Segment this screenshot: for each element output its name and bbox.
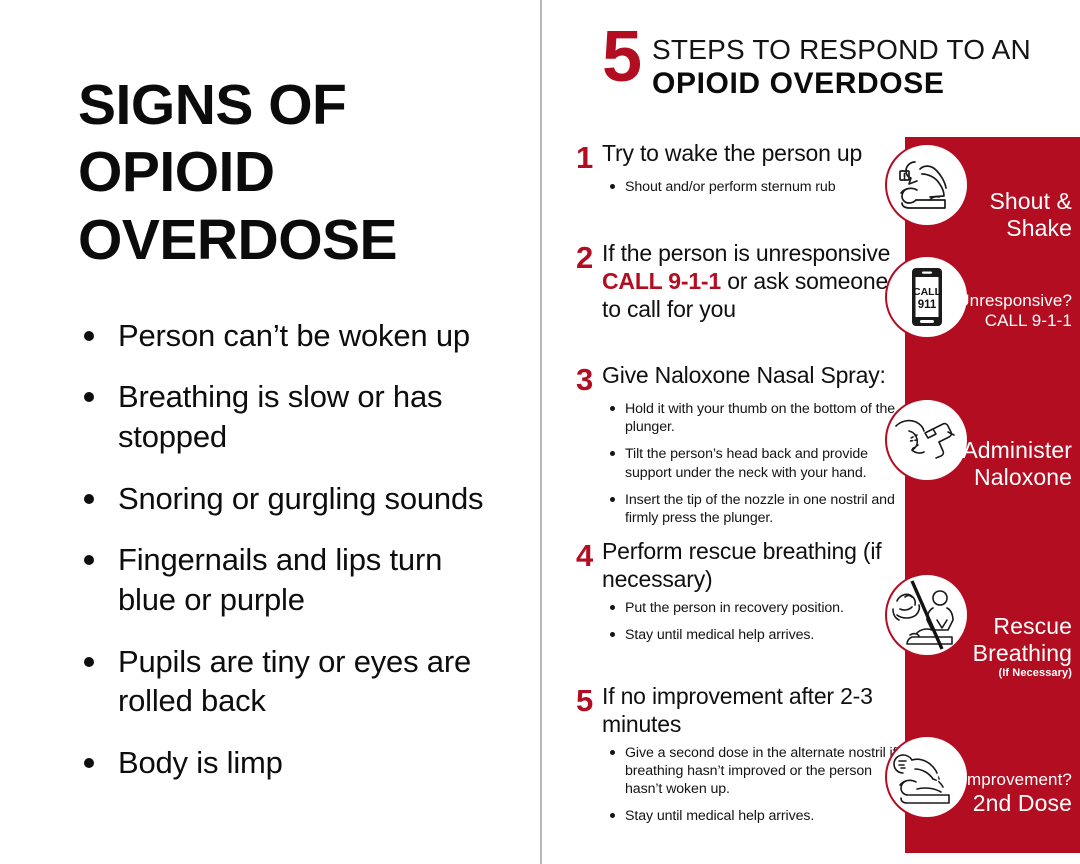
bullet-dot-icon — [84, 331, 94, 341]
bullet-dot-icon — [610, 497, 615, 502]
band-label-line-2: Shake — [932, 215, 1072, 242]
step-3-bullets: Hold it with your thumb on the bottom of… — [576, 400, 906, 527]
step-4-number: 4 — [576, 538, 602, 571]
signs-panel: SIGNS OF OPIOID OVERDOSE Person can’t be… — [0, 0, 540, 864]
step-4-bullets: Put the person in recovery position. Sta… — [576, 599, 906, 644]
list-item: Tilt the person’s head back and provide … — [610, 445, 906, 481]
bullet-text: Shout and/or perform sternum rub — [625, 179, 836, 195]
band-label-shout-shake: Shout & Shake — [932, 188, 1072, 242]
list-item: Body is limp — [78, 743, 506, 783]
step-1-number: 1 — [576, 140, 602, 173]
step-5: 5 If no improvement after 2-3 minutes Gi… — [576, 683, 906, 834]
band-label-line-2: Breathing — [922, 640, 1072, 667]
bullet-dot-icon — [610, 605, 615, 610]
step-3-number: 3 — [576, 362, 602, 395]
signs-panel-title: SIGNS OF OPIOID OVERDOSE — [78, 72, 506, 274]
bullet-dot-icon — [610, 813, 615, 818]
list-item: Fingernails and lips turn blue or purple — [78, 540, 506, 619]
signs-list: Person can’t be woken up Breathing is sl… — [78, 316, 506, 783]
step-2-title-pre: If the person is unresponsive — [602, 240, 890, 266]
steps-panel: 5 STEPS TO RESPOND TO AN OPIOID OVERDOSE… — [542, 0, 1080, 864]
list-item: Pupils are tiny or eyes are rolled back — [78, 642, 506, 721]
bullet-text: Tilt the person’s head back and provide … — [625, 446, 868, 480]
sign-text: Snoring or gurgling sounds — [118, 481, 483, 516]
sign-text: Body is limp — [118, 745, 283, 780]
step-4-title: Perform rescue breathing (if necessary) — [602, 538, 906, 594]
list-item: Snoring or gurgling sounds — [78, 479, 506, 519]
band-label-line-1: Administer — [922, 437, 1072, 464]
bullet-dot-icon — [610, 632, 615, 637]
bullet-text: Insert the tip of the nozzle in one nost… — [625, 492, 895, 526]
list-item: Put the person in recovery position. — [610, 599, 906, 617]
step-1-bullets: Shout and/or perform sternum rub — [576, 178, 906, 196]
steps-panel-header: 5 STEPS TO RESPOND TO AN OPIOID OVERDOSE — [602, 28, 1072, 101]
step-1-title-text: Try to wake the person up — [602, 140, 862, 166]
bullet-dot-icon — [84, 555, 94, 565]
step-2-number: 2 — [576, 240, 602, 273]
band-label-line-1: Shout & — [932, 188, 1072, 215]
bullet-text: Put the person in recovery position. — [625, 600, 844, 616]
band-label-line-2: CALL 9-1-1 — [922, 311, 1072, 331]
bullet-dot-icon — [84, 392, 94, 402]
step-1: 1 Try to wake the person up Shout and/or… — [576, 140, 906, 205]
bullet-dot-icon — [84, 758, 94, 768]
bullet-dot-icon — [610, 406, 615, 411]
signs-title-line-1: SIGNS OF — [78, 72, 506, 139]
band-label-rescue-breathing: Rescue Breathing (If Necessary) — [922, 613, 1072, 680]
step-3: 3 Give Naloxone Nasal Spray: Hold it wit… — [576, 362, 906, 536]
step-5-title-text: If no improvement after 2-3 minutes — [602, 683, 873, 737]
band-label-line-1: No Improvement? — [910, 770, 1072, 790]
steps-count-number: 5 — [602, 28, 640, 87]
bullet-text: Stay until medical help arrives. — [625, 808, 814, 824]
band-label-line-2: 2nd Dose — [910, 790, 1072, 817]
bullet-dot-icon — [84, 494, 94, 504]
list-item: Insert the tip of the nozzle in one nost… — [610, 491, 906, 527]
step-3-title-text: Give Naloxone Nasal Spray: — [602, 362, 886, 388]
steps-header-line-2: OPIOID OVERDOSE — [652, 67, 1031, 101]
list-item: Stay until medical help arrives. — [610, 807, 906, 825]
band-label-note: (If Necessary) — [922, 667, 1072, 680]
bullet-dot-icon — [610, 750, 615, 755]
steps-header-line-1: STEPS TO RESPOND TO AN — [652, 35, 1031, 64]
list-item: Stay until medical help arrives. — [610, 626, 906, 644]
step-5-number: 5 — [576, 683, 602, 716]
list-item: Hold it with your thumb on the bottom of… — [610, 400, 906, 436]
step-4: 4 Perform rescue breathing (if necessary… — [576, 538, 906, 653]
bullet-dot-icon — [610, 451, 615, 456]
band-label-administer-naloxone: Administer Naloxone — [922, 437, 1072, 491]
band-label-second-dose: No Improvement? 2nd Dose — [910, 770, 1072, 817]
step-2-call-911-highlight: CALL 9-1-1 — [602, 268, 721, 294]
bullet-text: Give a second dose in the alternate nost… — [625, 745, 896, 797]
sign-text: Breathing is slow or has stopped — [118, 379, 442, 454]
bullet-text: Stay until medical help arrives. — [625, 627, 814, 643]
bullet-dot-icon — [84, 657, 94, 667]
infographic-poster: SIGNS OF OPIOID OVERDOSE Person can’t be… — [0, 0, 1080, 864]
band-label-line-1: Rescue — [922, 613, 1072, 640]
bullet-text: Hold it with your thumb on the bottom of… — [625, 401, 895, 435]
bullet-dot-icon — [610, 184, 615, 189]
band-label-line-2: Naloxone — [922, 464, 1072, 491]
step-4-title-text: Perform rescue breathing (if necessary) — [602, 538, 881, 592]
band-label-unresponsive: Unresponsive? CALL 9-1-1 — [922, 291, 1072, 331]
list-item: Breathing is slow or has stopped — [78, 377, 506, 456]
list-item: Give a second dose in the alternate nost… — [610, 744, 906, 799]
band-label-line-1: Unresponsive? — [922, 291, 1072, 311]
step-5-bullets: Give a second dose in the alternate nost… — [576, 744, 906, 826]
signs-title-line-3: OVERDOSE — [78, 207, 506, 274]
signs-title-line-2: OPIOID — [78, 139, 506, 206]
sign-text: Fingernails and lips turn blue or purple — [118, 542, 442, 617]
list-item: Shout and/or perform sternum rub — [610, 178, 906, 196]
step-2-title: If the person is unresponsive CALL 9-1-1… — [602, 240, 906, 323]
list-item: Person can’t be woken up — [78, 316, 506, 356]
step-5-title: If no improvement after 2-3 minutes — [602, 683, 906, 739]
sign-text: Pupils are tiny or eyes are rolled back — [118, 644, 471, 719]
step-2: 2 If the person is unresponsive CALL 9-1… — [576, 240, 906, 323]
sign-text: Person can’t be woken up — [118, 318, 470, 353]
step-3-title: Give Naloxone Nasal Spray: — [602, 362, 886, 390]
step-1-title: Try to wake the person up — [602, 140, 862, 168]
